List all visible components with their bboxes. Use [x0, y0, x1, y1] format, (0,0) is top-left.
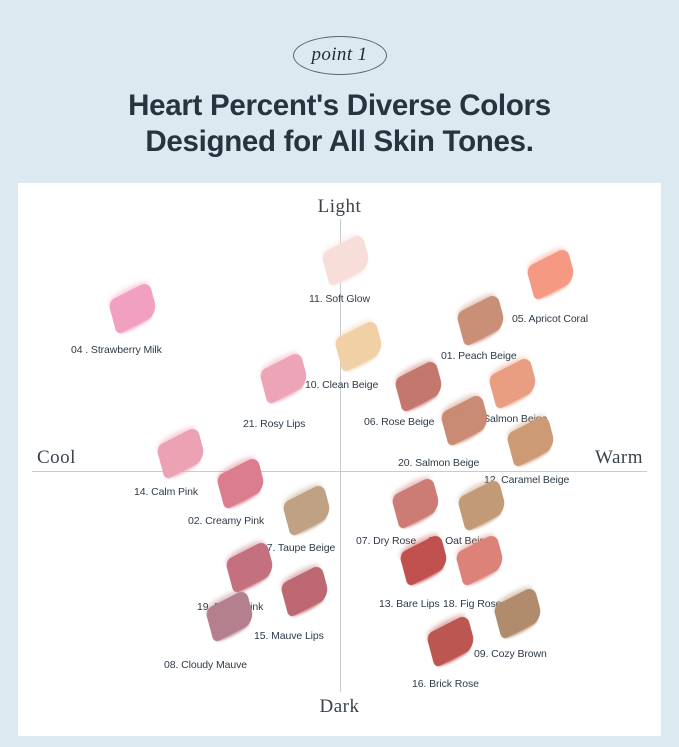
color-swatch[interactable] — [259, 351, 309, 405]
page-header: point 1 Heart Percent's Diverse Colors D… — [0, 0, 679, 183]
swatch-label: 20. Salmon Beige — [398, 457, 479, 469]
page-title-line-1: Heart Percent's Diverse Colors — [128, 89, 551, 122]
horizontal-axis-line — [32, 471, 647, 472]
swatch-label: 07. Dry Rose — [356, 535, 416, 547]
swatch-label: 04 . Strawberry Milk — [71, 344, 162, 356]
swatch-label: 17. Taupe Beige — [261, 542, 335, 554]
swatch-label: 18. Fig Rose — [443, 598, 501, 610]
axis-label-light: Light — [318, 196, 362, 218]
axis-label-dark: Dark — [320, 696, 360, 718]
swatch-label: 16. Brick Rose — [412, 678, 479, 690]
color-swatch[interactable] — [108, 281, 158, 335]
color-swatch[interactable] — [282, 483, 332, 537]
swatch-label: 05. Apricot Coral — [512, 313, 588, 325]
color-swatch[interactable] — [426, 614, 476, 668]
swatch-label: 06. Rose Beige — [364, 416, 434, 428]
color-swatch[interactable] — [456, 293, 506, 347]
color-swatch[interactable] — [321, 233, 371, 287]
color-swatch[interactable] — [216, 456, 266, 510]
vertical-axis-line — [340, 219, 341, 692]
swatch-label: 09. Cozy Brown — [474, 648, 547, 660]
color-swatch[interactable] — [391, 476, 441, 530]
color-swatch[interactable] — [334, 319, 384, 373]
swatch-label: 11. Soft Glow — [309, 293, 370, 305]
swatch-label: 10. Clean Beige — [305, 379, 378, 391]
swatch-label: 14. Calm Pink — [134, 486, 198, 498]
color-swatch[interactable] — [526, 247, 576, 301]
color-map-card: Light Dark Cool Warm 11. Soft Glow04 . S… — [18, 183, 661, 736]
axis-label-warm: Warm — [595, 447, 643, 469]
swatch-label: 21. Rosy Lips — [243, 418, 305, 430]
color-swatch[interactable] — [440, 393, 490, 447]
swatch-label: 08. Cloudy Mauve — [164, 659, 247, 671]
color-swatch[interactable] — [493, 586, 543, 640]
color-swatch[interactable] — [457, 478, 507, 532]
swatch-label: 13. Bare Lips — [379, 598, 440, 610]
color-swatch[interactable] — [280, 564, 330, 618]
point-badge: point 1 — [293, 36, 387, 75]
page-title: Heart Percent's Diverse Colors Designed … — [0, 88, 679, 160]
color-swatch[interactable] — [156, 426, 206, 480]
page-title-line-2: Designed for All Skin Tones. — [0, 124, 679, 160]
axis-label-cool: Cool — [37, 447, 76, 469]
color-swatch[interactable] — [225, 540, 275, 594]
swatch-label: 02. Creamy Pink — [188, 515, 264, 527]
color-swatch[interactable] — [205, 589, 255, 643]
color-swatch[interactable] — [394, 359, 444, 413]
color-swatch[interactable] — [488, 356, 538, 410]
swatch-label: 01. Peach Beige — [441, 350, 517, 362]
point-badge-label: point 1 — [311, 45, 367, 66]
swatch-label: 15. Mauve Lips — [254, 630, 324, 642]
